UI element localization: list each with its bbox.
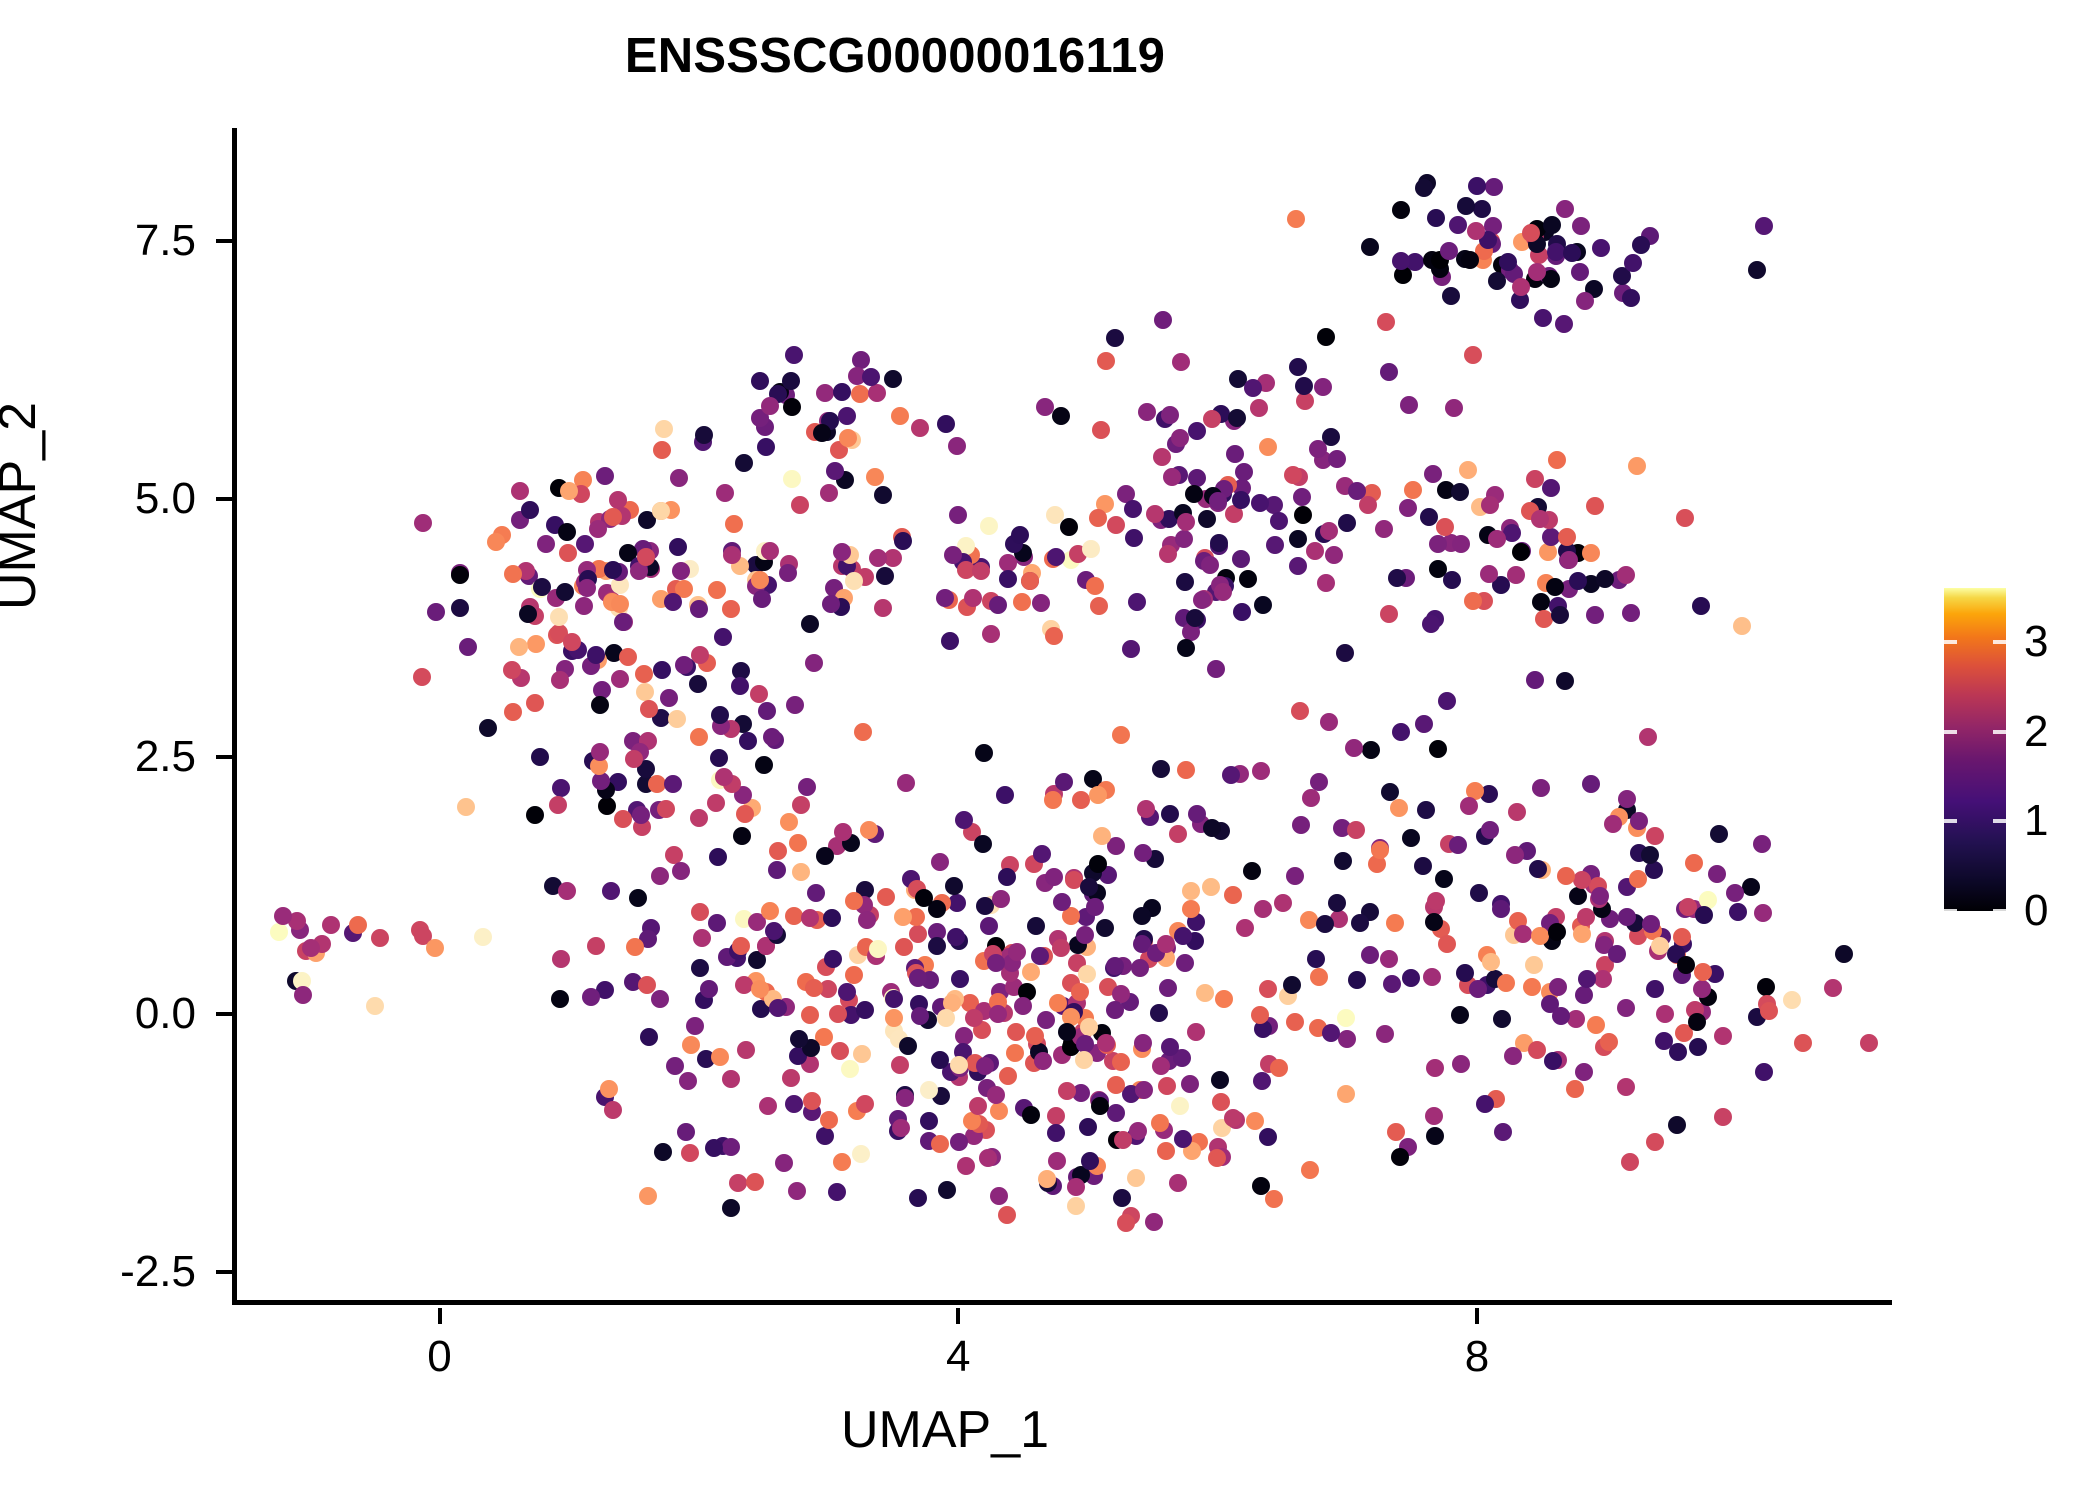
scatter-point <box>668 710 686 728</box>
scatter-point <box>1445 399 1463 417</box>
scatter-point <box>1380 605 1398 623</box>
scatter-point <box>672 862 690 880</box>
scatter-point <box>788 1182 806 1200</box>
x-tick-mark <box>1475 1308 1479 1324</box>
scatter-point <box>1014 997 1032 1015</box>
scatter-point <box>1497 974 1515 992</box>
scatter-point <box>1488 530 1506 548</box>
scatter-point <box>682 1036 700 1054</box>
scatter-point <box>677 1123 695 1141</box>
scatter-point <box>1548 923 1566 941</box>
scatter-point <box>686 1017 704 1035</box>
scatter-point <box>1860 1034 1878 1052</box>
scatter-point <box>1399 499 1417 517</box>
scatter-point <box>1514 925 1532 943</box>
x-tick-label: 0 <box>380 1335 500 1379</box>
scatter-point <box>1542 479 1560 497</box>
scatter-point <box>874 486 892 504</box>
colorbar-tick-mark <box>1993 730 2006 734</box>
scatter-point <box>990 1187 1008 1205</box>
scatter-point <box>708 581 726 599</box>
scatter-point <box>1380 950 1398 968</box>
y-axis-label: UMAP_2 <box>0 402 48 610</box>
scatter-point <box>909 1189 927 1207</box>
scatter-point <box>1508 803 1526 821</box>
scatter-point <box>1571 263 1589 281</box>
colorbar-tick-mark <box>1944 819 1957 823</box>
scatter-point <box>690 600 708 618</box>
scatter-point <box>735 454 753 472</box>
scatter-point <box>1451 1006 1469 1024</box>
scatter-point <box>1482 953 1500 971</box>
scatter-point <box>1124 500 1142 518</box>
scatter-point <box>909 969 927 987</box>
scatter-point <box>598 797 616 815</box>
scatter-point <box>1504 1047 1522 1065</box>
scatter-point <box>1186 609 1204 627</box>
scatter-point <box>576 535 594 553</box>
scatter-point <box>1044 791 1062 809</box>
scatter-point <box>928 937 946 955</box>
scatter-point <box>1322 1024 1340 1042</box>
colorbar-tick-mark <box>1993 640 2006 644</box>
scatter-point <box>1539 543 1557 561</box>
scatter-point <box>1573 925 1591 943</box>
scatter-point <box>626 938 644 956</box>
scatter-point <box>951 970 969 988</box>
scatter-point <box>1755 217 1773 235</box>
scatter-point <box>1114 1131 1132 1149</box>
scatter-point <box>1688 1013 1706 1031</box>
scatter-point <box>1252 1177 1270 1195</box>
scatter-point <box>1158 1077 1176 1095</box>
scatter-point <box>1608 945 1626 963</box>
colorbar-tick-label: 0 <box>2024 889 2048 933</box>
scatter-point <box>708 914 726 932</box>
scatter-point <box>1187 1023 1205 1041</box>
scatter-point <box>757 438 775 456</box>
scatter-point <box>1459 461 1477 479</box>
scatter-point <box>270 923 288 941</box>
scatter-point <box>1673 928 1691 946</box>
scatter-point <box>1060 518 1078 536</box>
scatter-point <box>1113 1189 1131 1207</box>
scatter-point <box>937 1009 955 1027</box>
scatter-point <box>592 772 610 790</box>
scatter-point <box>1617 999 1635 1017</box>
scatter-point <box>856 1001 874 1019</box>
y-tick-label: 2.5 <box>0 735 196 779</box>
scatter-point <box>1328 894 1346 912</box>
scatter-point <box>1646 980 1664 998</box>
scatter-point <box>1375 520 1393 538</box>
scatter-point <box>651 867 669 885</box>
scatter-point <box>1214 583 1232 601</box>
y-tick-mark <box>216 497 232 501</box>
scatter-point <box>1210 534 1228 552</box>
scatter-point <box>949 506 967 524</box>
scatter-point <box>413 668 431 686</box>
scatter-point <box>560 482 578 500</box>
scatter-point <box>941 632 959 650</box>
scatter-point <box>1157 1142 1175 1160</box>
colorbar-tick-mark <box>1993 819 2006 823</box>
x-tick-label: 8 <box>1417 1335 1537 1379</box>
scatter-point <box>635 665 653 683</box>
scatter-point <box>604 561 622 579</box>
scatter-point <box>1794 1034 1812 1052</box>
scatter-point <box>1171 429 1189 447</box>
scatter-point <box>302 939 320 957</box>
scatter-point <box>801 1006 819 1024</box>
scatter-point <box>457 798 475 816</box>
scatter-point <box>1157 935 1175 953</box>
scatter-point <box>1361 238 1379 256</box>
scatter-point <box>1575 986 1593 1004</box>
scatter-point <box>640 1028 658 1046</box>
scatter-point <box>736 805 754 823</box>
scatter-point <box>1212 1093 1230 1111</box>
scatter-point <box>779 564 797 582</box>
scatter-point <box>1415 715 1433 733</box>
scatter-point <box>753 590 771 608</box>
scatter-point <box>1259 438 1277 456</box>
scatter-point <box>805 654 823 672</box>
scatter-point <box>791 496 809 514</box>
scatter-point <box>920 1112 938 1130</box>
scatter-point <box>1076 926 1094 944</box>
scatter-point <box>1426 1127 1444 1145</box>
scatter-point <box>911 419 929 437</box>
scatter-point <box>1048 1152 1066 1170</box>
scatter-point <box>1232 491 1250 509</box>
scatter-point <box>798 778 816 796</box>
scatter-point <box>1289 530 1307 548</box>
scatter-point <box>1733 617 1751 635</box>
scatter-point <box>1380 363 1398 381</box>
scatter-point <box>1137 800 1155 818</box>
scatter-point <box>654 1143 672 1161</box>
scatter-point <box>1239 570 1257 588</box>
scatter-point <box>780 813 798 831</box>
scatter-point <box>294 986 312 1004</box>
scatter-point <box>675 656 693 674</box>
scatter-point <box>1708 865 1726 883</box>
scatter-point <box>1274 894 1292 912</box>
scatter-point <box>1567 1010 1585 1028</box>
scatter-point <box>1096 919 1114 937</box>
scatter-point <box>807 884 825 902</box>
scatter-point <box>1338 1030 1356 1048</box>
scatter-point <box>1656 1005 1674 1023</box>
scatter-point <box>1072 791 1090 809</box>
scatter-point <box>414 514 432 532</box>
scatter-point <box>274 907 292 925</box>
scatter-point <box>1175 530 1193 548</box>
scatter-point <box>1689 1038 1707 1056</box>
scatter-point <box>1377 313 1395 331</box>
scatter-point <box>838 407 856 425</box>
scatter-point <box>1359 496 1377 514</box>
scatter-point <box>1624 254 1642 272</box>
scatter-point <box>1196 984 1214 1002</box>
scatter-point <box>479 719 497 737</box>
scatter-point <box>1007 1023 1025 1041</box>
scatter-point <box>1112 726 1130 744</box>
scatter-point <box>1091 1097 1109 1115</box>
scatter-point <box>660 689 678 707</box>
scatter-point <box>1748 261 1766 279</box>
scatter-point <box>972 562 990 580</box>
scatter-point <box>1639 728 1657 746</box>
scatter-point <box>371 929 389 947</box>
scatter-point <box>987 1086 1005 1104</box>
scatter-point <box>1582 775 1600 793</box>
scatter-point <box>1082 540 1100 558</box>
scatter-point <box>785 346 803 364</box>
scatter-point <box>619 648 637 666</box>
scatter-point <box>1391 1148 1409 1166</box>
scatter-point <box>1086 898 1104 916</box>
scatter-point <box>1655 1032 1673 1050</box>
scatter-point <box>1047 548 1065 566</box>
scatter-point <box>1233 603 1251 621</box>
scatter-point <box>1523 978 1541 996</box>
scatter-point <box>1362 741 1380 759</box>
scatter-point <box>551 671 569 689</box>
scatter-point <box>1679 898 1697 916</box>
scatter-point <box>1128 593 1146 611</box>
scatter-point <box>1022 1106 1040 1124</box>
scatter-point <box>1252 762 1270 780</box>
scatter-point <box>980 517 998 535</box>
scatter-point <box>666 1057 684 1075</box>
scatter-point <box>552 950 570 968</box>
scatter-point <box>1695 906 1713 924</box>
scatter-point <box>782 1069 800 1087</box>
scatter-point <box>1435 870 1453 888</box>
scatter-point <box>1159 979 1177 997</box>
scatter-point <box>1532 593 1550 611</box>
scatter-point <box>1449 836 1467 854</box>
scatter-point <box>944 546 962 564</box>
scatter-point <box>1348 971 1366 989</box>
scatter-point <box>611 670 629 688</box>
scatter-point <box>1265 1190 1283 1208</box>
scatter-point <box>1244 379 1262 397</box>
scatter-point <box>1452 535 1470 553</box>
scatter-point <box>1480 565 1498 583</box>
scatter-point <box>1047 1107 1065 1125</box>
scatter-point <box>1526 470 1544 488</box>
scatter-point <box>722 1199 740 1217</box>
scatter-point <box>1618 908 1636 926</box>
scatter-point <box>670 469 688 487</box>
scatter-point <box>1011 526 1029 544</box>
scatter-point <box>1224 1109 1242 1127</box>
scatter-point <box>947 928 965 946</box>
scatter-point <box>537 535 555 553</box>
scatter-point <box>731 677 749 695</box>
scatter-point <box>1452 1055 1470 1073</box>
scatter-point <box>1512 543 1530 561</box>
scatter-point <box>1726 884 1744 902</box>
scatter-point <box>931 853 949 871</box>
scatter-point <box>1117 1214 1135 1232</box>
scatter-point <box>715 768 733 786</box>
scatter-point <box>751 372 769 390</box>
scatter-point <box>1617 566 1635 584</box>
scatter-point <box>1422 615 1440 633</box>
scatter-point <box>1306 542 1324 560</box>
scatter-point <box>604 1101 622 1119</box>
scatter-point <box>1387 1123 1405 1141</box>
scatter-point <box>664 593 682 611</box>
scatter-point <box>950 1133 968 1151</box>
scatter-point <box>1345 739 1363 757</box>
scatter-point <box>1022 963 1040 981</box>
scatter-point <box>521 501 539 519</box>
scatter-point <box>664 775 682 793</box>
scatter-point <box>945 877 963 895</box>
scatter-point <box>868 384 886 402</box>
scatter-point <box>1013 593 1031 611</box>
scatter-point <box>1488 272 1506 290</box>
scatter-point <box>349 916 367 934</box>
scatter-point <box>582 988 600 1006</box>
scatter-point <box>1417 801 1435 819</box>
scatter-point <box>587 937 605 955</box>
scatter-point <box>1250 399 1268 417</box>
scatter-point <box>1438 935 1456 953</box>
scatter-point <box>1506 846 1524 864</box>
scatter-point <box>737 1041 755 1059</box>
scatter-point <box>1067 1197 1085 1215</box>
scatter-point <box>1621 1153 1639 1171</box>
scatter-point <box>957 1157 975 1175</box>
scatter-point <box>869 549 887 567</box>
scatter-point <box>746 1173 764 1191</box>
scatter-point <box>1181 1075 1199 1093</box>
scatter-point <box>911 1007 929 1025</box>
scatter-point <box>1429 535 1447 553</box>
scatter-point <box>1203 410 1221 428</box>
scatter-point <box>691 903 709 921</box>
scatter-point <box>1592 239 1610 257</box>
scatter-point <box>1404 481 1422 499</box>
scatter-point <box>1203 819 1221 837</box>
scatter-point <box>1383 975 1401 993</box>
scatter-point <box>999 1067 1017 1085</box>
scatter-point <box>1193 591 1211 609</box>
scatter-point <box>1152 760 1170 778</box>
scatter-point <box>732 937 750 955</box>
scatter-point <box>504 703 522 721</box>
scatter-point <box>722 1070 740 1088</box>
scatter-point <box>657 800 675 818</box>
scatter-point <box>1171 1097 1189 1115</box>
scatter-point <box>1586 497 1604 515</box>
scatter-point <box>803 1092 821 1110</box>
scatter-point <box>758 702 776 720</box>
scatter-point <box>451 566 469 584</box>
scatter-point <box>426 939 444 957</box>
scatter-point <box>813 424 831 442</box>
scatter-point <box>1188 805 1206 823</box>
scatter-point <box>1469 980 1487 998</box>
scatter-point <box>1038 1170 1056 1188</box>
scatter-point <box>1622 604 1640 622</box>
scatter-point <box>1685 854 1703 872</box>
scatter-point <box>1558 528 1576 546</box>
scatter-point <box>1492 900 1510 918</box>
scatter-point <box>874 599 892 617</box>
scatter-point <box>1760 1002 1778 1020</box>
scatter-point <box>427 603 445 621</box>
y-tick-mark <box>216 1270 232 1274</box>
x-tick-mark <box>956 1308 960 1324</box>
scatter-point <box>1266 536 1284 554</box>
scatter-point <box>1512 278 1530 296</box>
scatter-point <box>1328 450 1346 468</box>
scatter-point <box>1336 644 1354 662</box>
scatter-point <box>1555 315 1573 333</box>
scatter-point <box>1824 979 1842 997</box>
scatter-point <box>1729 903 1747 921</box>
scatter-point <box>1215 990 1233 1008</box>
scatter-point <box>451 599 469 617</box>
scatter-point <box>1415 179 1433 197</box>
scatter-point <box>1253 1072 1271 1090</box>
scatter-point <box>1138 403 1156 421</box>
scatter-point <box>1301 1161 1319 1179</box>
scatter-point <box>691 959 709 977</box>
scatter-point <box>866 468 884 486</box>
scatter-point <box>1286 1013 1304 1031</box>
scatter-point <box>792 863 810 881</box>
scatter-point <box>783 470 801 488</box>
scatter-point <box>1386 914 1404 932</box>
scatter-point <box>877 888 895 906</box>
scatter-point <box>1307 950 1325 968</box>
scatter-point <box>856 1095 874 1113</box>
scatter-point <box>1337 1085 1355 1103</box>
scatter-point <box>722 1138 740 1156</box>
colorbar-tick-label: 3 <box>2024 620 2048 664</box>
scatter-point <box>1270 512 1288 530</box>
scatter-point <box>982 625 1000 643</box>
scatter-point <box>1573 871 1591 889</box>
scatter-point <box>1032 594 1050 612</box>
scatter-point <box>876 567 894 585</box>
scatter-point <box>1291 702 1309 720</box>
scatter-point <box>1692 597 1710 615</box>
scatter-point <box>1209 492 1227 510</box>
scatter-point <box>589 520 607 538</box>
scatter-point <box>820 484 838 502</box>
scatter-point <box>891 1056 909 1074</box>
scatter-point <box>1232 550 1250 568</box>
scatter-point <box>1677 956 1695 974</box>
scatter-point <box>1161 805 1179 823</box>
colorbar-tick-label: 1 <box>2024 799 2048 843</box>
scatter-point <box>1243 862 1261 880</box>
scatter-point <box>833 383 851 401</box>
scatter-point <box>1089 509 1107 527</box>
x-tick-mark <box>438 1308 442 1324</box>
scatter-point <box>655 420 673 438</box>
scatter-point <box>1314 378 1332 396</box>
